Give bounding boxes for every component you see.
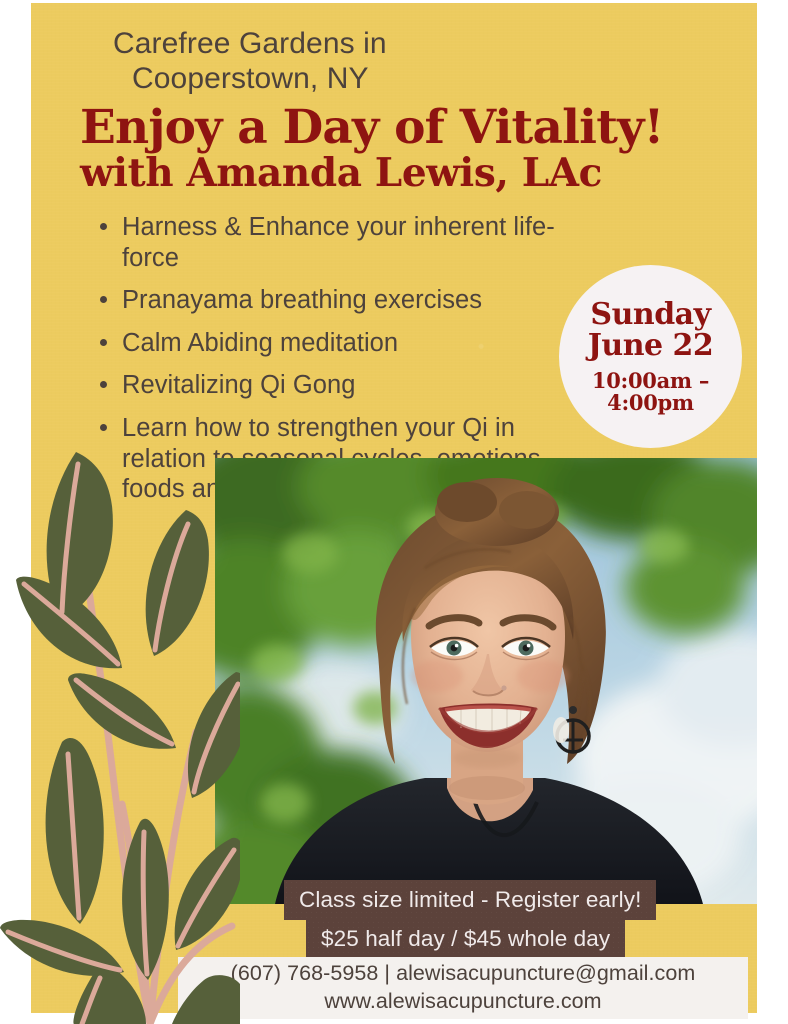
contact-website[interactable]: www.alewisacupuncture.com (247, 987, 679, 1015)
price-callout-bar: $25 half day / $45 whole day (306, 920, 625, 958)
register-callout-text: Class size limited - Register early! (299, 887, 641, 913)
badge-day: Sunday (590, 299, 710, 330)
poster-canvas: Carefree Gardens in Cooperstown, NY Enjo… (0, 0, 788, 1024)
date-badge: Sunday June 22 10:00am – 4:00pm (559, 265, 742, 448)
headline-line-1: Enjoy a Day of Vitality! (80, 104, 760, 151)
badge-date: June 22 (588, 330, 714, 361)
badge-times: 10:00am – 4:00pm (592, 370, 709, 415)
instructor-portrait-photo (215, 458, 757, 904)
register-callout-bar: Class size limited - Register early! (284, 880, 656, 920)
list-item: Harness & Enhance your inherent life-for… (96, 212, 566, 273)
price-callout-text: $25 half day / $45 whole day (321, 926, 610, 952)
list-item: Revitalizing Qi Gong (96, 370, 566, 401)
badge-time-start: 10:00am – (592, 368, 709, 393)
venue-heading: Carefree Gardens in Cooperstown, NY (113, 27, 633, 97)
headline-line-2: with Amanda Lewis, LAc (80, 153, 760, 194)
badge-time-end: 4:00pm (607, 390, 694, 415)
contact-block: (607) 768-5958 | alewisacupuncture@gmail… (178, 957, 748, 1019)
list-item: Pranayama breathing exercises (96, 285, 566, 316)
venue-line-1: Carefree Gardens in (113, 27, 387, 60)
page-title: Enjoy a Day of Vitality! with Amanda Lew… (80, 104, 760, 194)
list-item: Calm Abiding meditation (96, 328, 566, 359)
venue-line-2: Cooperstown, NY (113, 62, 633, 97)
contact-phone-email[interactable]: (607) 768-5958 | alewisacupuncture@gmail… (178, 959, 748, 987)
